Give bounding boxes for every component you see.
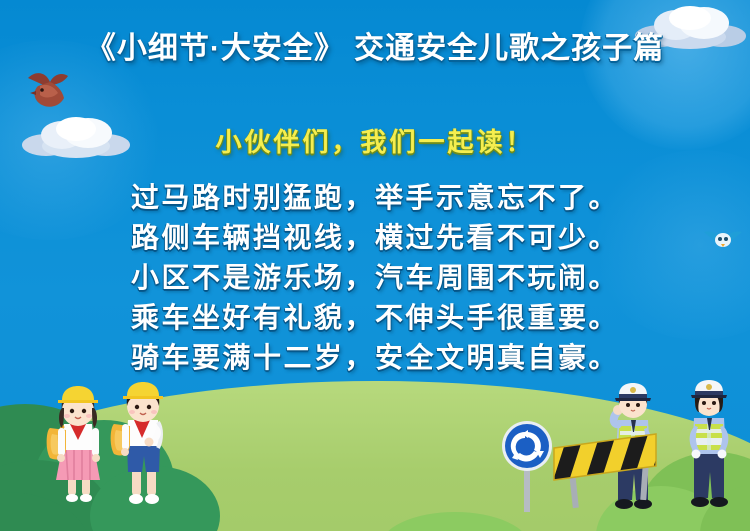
- poster-subtitle: 小伙伴们，我们一起读！: [0, 122, 750, 159]
- poem-line: 路侧车辆挡视线，横过先看不可少。: [0, 218, 750, 258]
- poem-line: 小区不是游乐场，汽车周围不玩闹。: [0, 258, 750, 298]
- poster-title: 《小细节·大安全》 交通安全儿歌之孩子篇: [0, 32, 750, 67]
- traffic-safety-poster: 《小细节·大安全》 交通安全儿歌之孩子篇 小伙伴们，我们一起读！ 过马路时别猛跑…: [0, 0, 750, 531]
- poster-subtitle-text: 小伙伴们，我们一起读！: [215, 122, 534, 159]
- poem-line: 骑车要满十二岁，安全文明真自豪。: [0, 338, 750, 378]
- poem-block: 过马路时别猛跑，举手示意忘不了。 路侧车辆挡视线，横过先看不可少。 小区不是游乐…: [0, 178, 750, 378]
- road-barrier-icon: [548, 424, 660, 510]
- poster-title-text: 《小细节·大安全》 交通安全儿歌之孩子篇: [86, 32, 664, 67]
- poem-line: 乘车坐好有礼貌，不伸头手很重要。: [0, 298, 750, 338]
- poem-line: 过马路时别猛跑，举手示意忘不了。: [0, 178, 750, 218]
